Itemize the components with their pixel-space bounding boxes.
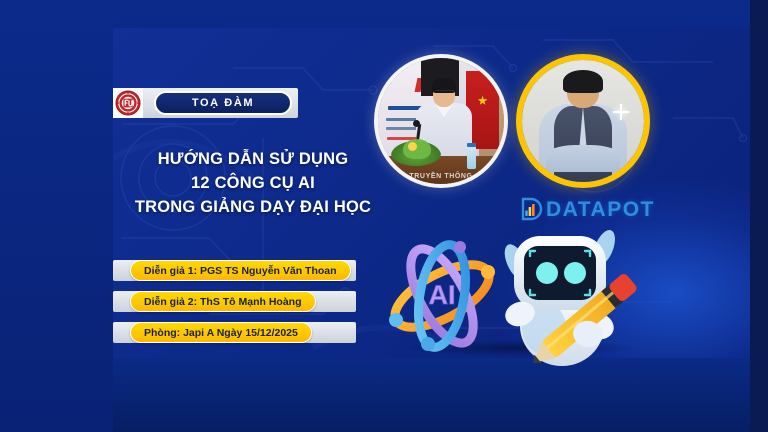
right-frame-band (750, 0, 768, 432)
speaker-photo-2-image (522, 60, 644, 182)
ai-atom-icon: AI (372, 232, 512, 362)
speaker-2-label: Diễn giả 2: ThS Tô Mạnh Hoàng (144, 296, 302, 308)
venue-date-pill: Phòng: Japi A Ngày 15/12/2025 (130, 322, 312, 343)
datapot-logo: DATAPOT (518, 196, 655, 222)
toa-dam-label: TOẠ ĐÀM (192, 97, 254, 109)
speaker-photo-2 (516, 54, 650, 188)
bar-chart-icon (518, 196, 544, 222)
toa-dam-badge: TOẠ ĐÀM (154, 91, 292, 115)
robot-with-pencil-icon (492, 222, 672, 382)
speaker-2-pill: Diễn giả 2: ThS Tô Mạnh Hoàng (130, 291, 316, 312)
atom-ai-label: AI (429, 280, 456, 310)
speaker-photo-1-image: TRUYỀN THÔNG (378, 58, 504, 184)
speaker-1-pill: Diễn giả 1: PGS TS Nguyễn Văn Thoan (130, 260, 351, 281)
datapot-wordmark: DATAPOT (546, 199, 655, 220)
info-pill-row: Phòng: Japi A Ngày 15/12/2025 (113, 322, 356, 343)
speaker-photo-1: TRUYỀN THÔNG (374, 54, 508, 188)
page-title: HƯỚNG DẪN SỬ DỤNG 12 CÔNG CỤ AI TRONG GI… (113, 148, 393, 220)
speaker-photo-1-caption: TRUYỀN THÔNG (378, 173, 504, 180)
badge-row: TOẠ ĐÀM (113, 88, 298, 118)
venue-date-label: Phòng: Japi A Ngày 15/12/2025 (144, 327, 298, 339)
title-line-2: 12 CÔNG CỤ AI (113, 172, 393, 196)
title-line-1: HƯỚNG DẪN SỬ DỤNG (113, 148, 393, 172)
info-pill-list: Diễn giả 1: PGS TS Nguyễn Văn Thoan Diễn… (113, 260, 356, 353)
info-pill-row: Diễn giả 2: ThS Tô Mạnh Hoàng (113, 291, 356, 312)
ftu-seal-icon (113, 88, 143, 118)
speaker-1-label: Diễn giả 1: PGS TS Nguyễn Văn Thoan (144, 265, 337, 277)
left-margin-band (0, 0, 113, 432)
event-poster: TOẠ ĐÀM HƯỚNG DẪN SỬ DỤNG 12 CÔNG CỤ AI … (0, 0, 768, 432)
info-pill-row: Diễn giả 1: PGS TS Nguyễn Văn Thoan (113, 260, 356, 281)
title-line-3: TRONG GIẢNG DẠY ĐẠI HỌC (113, 196, 393, 220)
